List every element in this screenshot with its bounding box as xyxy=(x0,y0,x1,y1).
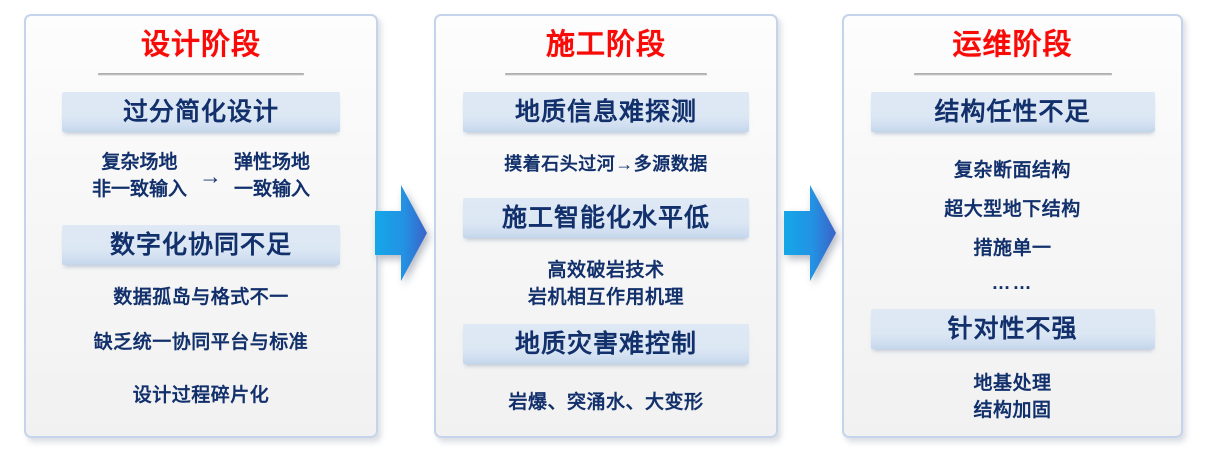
transform-to-line2: 一致输入 xyxy=(234,177,310,203)
transform-from: 复杂场地 非一致输入 xyxy=(92,150,187,202)
right-arrow-icon: → xyxy=(195,163,226,190)
subheading-insufficient-structural-adaptability: 结构任性不足 xyxy=(871,92,1155,132)
stage-panel-design: 设计阶段 过分简化设计 复杂场地 非一致输入 → 弹性场地 一致输入 数字化协同… xyxy=(24,14,378,438)
body-line: 复杂断面结构 xyxy=(854,158,1171,185)
subheading-over-simplified-design: 过分简化设计 xyxy=(62,92,340,132)
page-title: 设计阶段 xyxy=(36,16,366,61)
subheading-low-construction-intelligence: 施工智能化水平低 xyxy=(463,198,749,238)
body-line: 岩爆、突涌水、大变形 xyxy=(446,390,766,417)
body-line: 高效破岩技术 xyxy=(446,258,766,285)
body-line: 数据孤岛与格式不一 xyxy=(36,285,366,312)
body-line: 岩机相互作用机理 xyxy=(446,285,766,312)
flow-arrow-icon xyxy=(784,185,836,281)
body-line: 地基处理 xyxy=(854,371,1171,398)
ellipsis-text: …… xyxy=(854,273,1171,295)
body-line: 超大型地下结构 xyxy=(854,197,1171,224)
stage-panel-operation: 运维阶段 结构任性不足 复杂断面结构 超大型地下结构 措施单一 …… 针对性不强… xyxy=(842,14,1183,438)
body-line: 摸着石头过河→多源数据 xyxy=(446,152,766,178)
body-line: 结构加固 xyxy=(854,398,1171,425)
page-title: 运维阶段 xyxy=(854,16,1171,61)
page-title: 施工阶段 xyxy=(446,16,766,61)
stage-panel-construction: 施工阶段 地质信息难探测 摸着石头过河→多源数据 施工智能化水平低 高效破岩技术… xyxy=(434,14,778,438)
flow-arrow-icon xyxy=(375,185,427,281)
subheading-poor-targeting: 针对性不强 xyxy=(871,309,1155,349)
transform-from-line2: 非一致输入 xyxy=(92,177,187,203)
transform-to-line1: 弹性场地 xyxy=(234,150,310,176)
diagram-canvas: 设计阶段 过分简化设计 复杂场地 非一致输入 → 弹性场地 一致输入 数字化协同… xyxy=(0,0,1211,453)
transform-from-line1: 复杂场地 xyxy=(92,150,187,176)
subheading-geological-hazard-hard-to-control: 地质灾害难控制 xyxy=(463,324,749,364)
body-line: 设计过程碎片化 xyxy=(36,383,366,410)
body-line: 缺乏统一协同平台与标准 xyxy=(36,330,366,357)
subheading-insufficient-digital-collaboration: 数字化协同不足 xyxy=(62,225,340,265)
body-line: 措施单一 xyxy=(854,236,1171,263)
subheading-geological-info-hard-to-detect: 地质信息难探测 xyxy=(463,92,749,132)
transform-row: 复杂场地 非一致输入 → 弹性场地 一致输入 xyxy=(36,150,366,202)
transform-to: 弹性场地 一致输入 xyxy=(234,150,310,202)
